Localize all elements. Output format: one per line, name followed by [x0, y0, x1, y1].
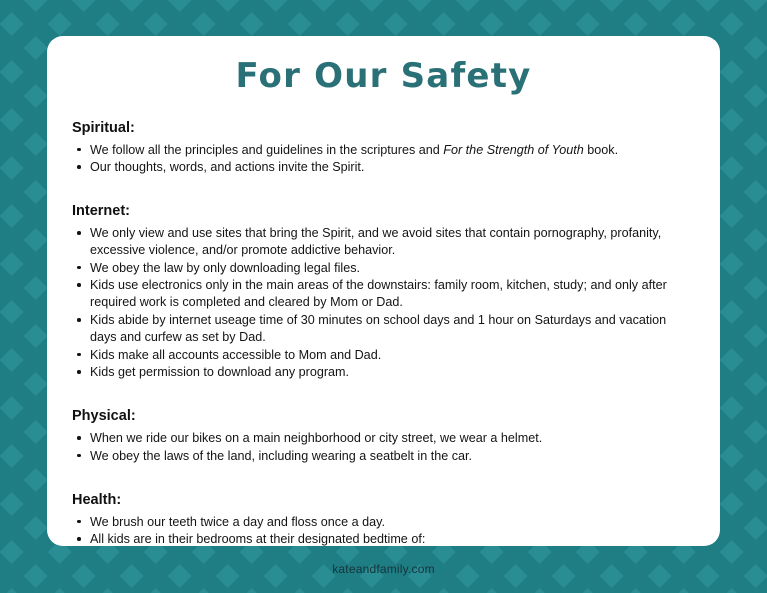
- bullet-dot-icon: [77, 370, 81, 374]
- section-heading: Internet:: [72, 202, 694, 221]
- list-item-text: We obey the law by only downloading lega…: [90, 261, 360, 275]
- list-item: We only view and use sites that bring th…: [72, 225, 694, 259]
- section: Internet:We only view and use sites that…: [72, 202, 694, 381]
- bullet-dot-icon: [77, 165, 81, 169]
- content-card: For Our Safety Spiritual:We follow all t…: [47, 36, 720, 546]
- page-title: For Our Safety: [47, 36, 720, 97]
- list-item-text: We follow all the principles and guideli…: [90, 143, 443, 157]
- list-item: When we ride our bikes on a main neighbo…: [72, 430, 694, 447]
- list-item-text: All kids are in their bedrooms at their …: [90, 532, 425, 546]
- section: Physical:When we ride our bikes on a mai…: [72, 407, 694, 464]
- bullet-dot-icon: [77, 231, 81, 235]
- list-item-text: We only view and use sites that bring th…: [90, 226, 661, 257]
- list-item: Kids use electronics only in the main ar…: [72, 277, 694, 311]
- bullet-dot-icon: [77, 520, 81, 524]
- list-item: Kids abide by internet useage time of 30…: [72, 312, 694, 346]
- bullet-dot-icon: [77, 537, 81, 541]
- sections-container: Spiritual:We follow all the principles a…: [47, 97, 720, 546]
- bullet-list: We follow all the principles and guideli…: [72, 142, 694, 177]
- list-item-text: Kids use electronics only in the main ar…: [90, 278, 667, 309]
- bullet-dot-icon: [77, 353, 81, 357]
- list-item-text: book.: [584, 143, 618, 157]
- list-item: We brush our teeth twice a day and floss…: [72, 514, 694, 531]
- list-item: Kids make all accounts accessible to Mom…: [72, 347, 694, 364]
- section: Health:We brush our teeth twice a day an…: [72, 491, 694, 546]
- bullet-dot-icon: [77, 436, 81, 440]
- section-heading: Spiritual:: [72, 119, 694, 138]
- section-heading: Health:: [72, 491, 694, 510]
- bullet-dot-icon: [77, 148, 81, 152]
- list-item-text: Kids get permission to download any prog…: [90, 365, 349, 379]
- list-item-text-italic: For the Strength of Youth: [443, 143, 584, 157]
- bullet-list: When we ride our bikes on a main neighbo…: [72, 430, 694, 465]
- footer-website: kateandfamily.com: [0, 562, 767, 576]
- poster-background: For Our Safety Spiritual:We follow all t…: [0, 0, 767, 593]
- list-item: Our thoughts, words, and actions invite …: [72, 159, 694, 176]
- list-item: We obey the law by only downloading lega…: [72, 260, 694, 277]
- bullet-dot-icon: [77, 266, 81, 270]
- section-heading: Physical:: [72, 407, 694, 426]
- bullet-dot-icon: [77, 283, 81, 287]
- section: Spiritual:We follow all the principles a…: [72, 119, 694, 176]
- list-item-text: Kids abide by internet useage time of 30…: [90, 313, 666, 344]
- list-item-text: When we ride our bikes on a main neighbo…: [90, 431, 542, 445]
- list-item-text: Our thoughts, words, and actions invite …: [90, 160, 364, 174]
- list-item: We follow all the principles and guideli…: [72, 142, 694, 159]
- list-item-text: Kids make all accounts accessible to Mom…: [90, 348, 381, 362]
- bullet-list: We brush our teeth twice a day and floss…: [72, 514, 694, 546]
- bullet-list: We only view and use sites that bring th…: [72, 225, 694, 381]
- bullet-dot-icon: [77, 318, 81, 322]
- list-item: We obey the laws of the land, including …: [72, 448, 694, 465]
- bullet-dot-icon: [77, 454, 81, 458]
- list-item-text: We obey the laws of the land, including …: [90, 449, 472, 463]
- list-item: Kids get permission to download any prog…: [72, 364, 694, 381]
- list-item: All kids are in their bedrooms at their …: [72, 531, 694, 546]
- list-item-text: We brush our teeth twice a day and floss…: [90, 515, 385, 529]
